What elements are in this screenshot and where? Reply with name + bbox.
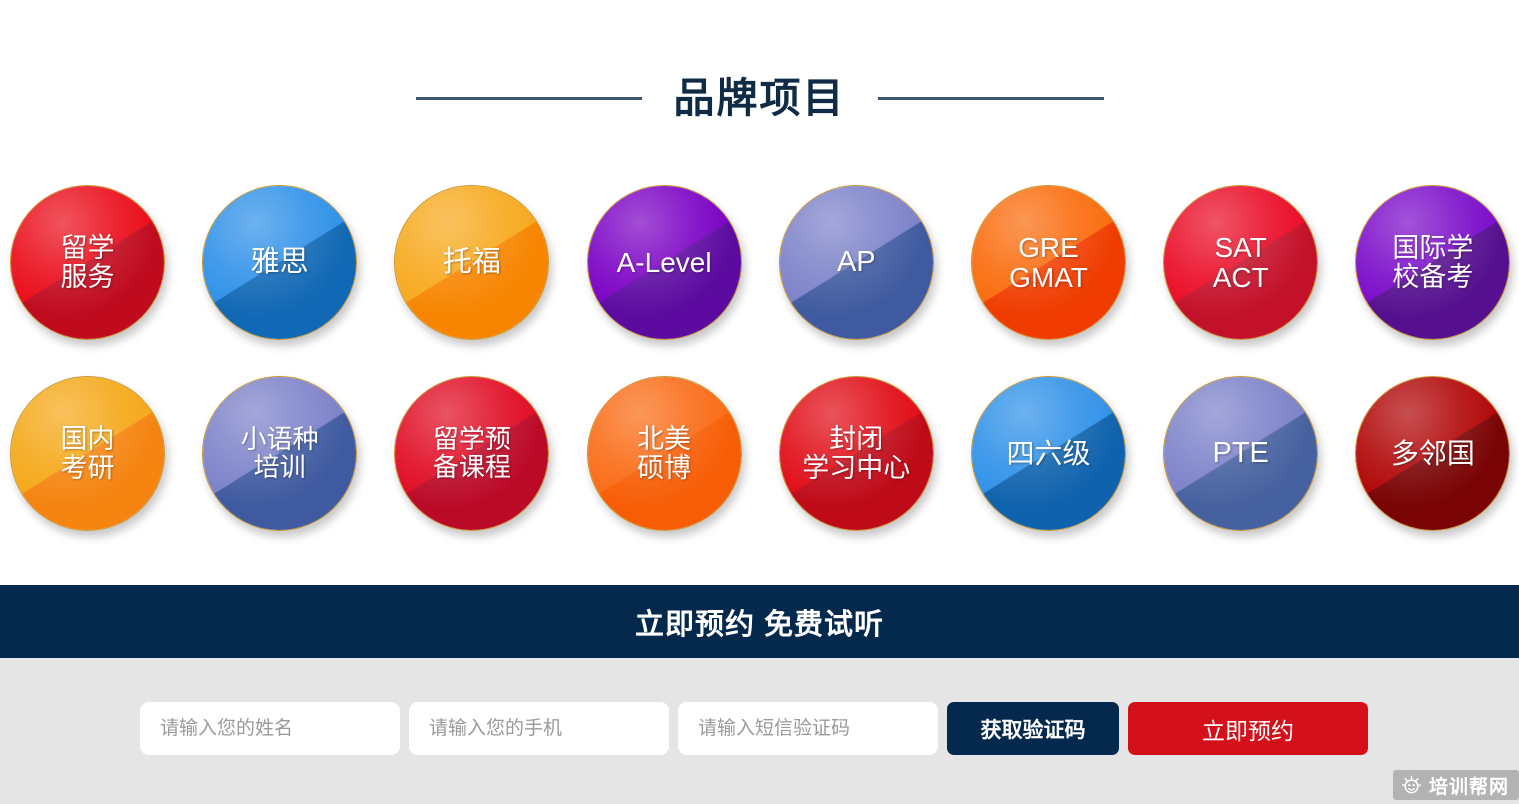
program-bubble[interactable]: 多邻国 — [1355, 376, 1510, 531]
program-bubble[interactable]: 四六级 — [971, 376, 1126, 531]
sun-face-icon — [1401, 775, 1422, 796]
sms-code-input[interactable] — [678, 702, 938, 755]
section-header: 品牌项目 — [0, 62, 1519, 134]
program-bubble[interactable]: PTE — [1163, 376, 1318, 531]
program-bubble-line: 培训 — [241, 454, 319, 481]
program-bubble-line: 北美 — [637, 425, 691, 453]
program-grid: 留学服务雅思托福A-LevelAPGREGMATSATACT国际学校备考 国内考… — [10, 185, 1515, 567]
program-bubble-label: 四六级 — [1006, 439, 1090, 468]
program-bubble[interactable]: 国内考研 — [10, 376, 165, 531]
cta-banner: 立即预约 免费试听 — [0, 585, 1519, 658]
program-bubble-line: SAT — [1213, 233, 1269, 262]
program-bubble[interactable]: 国际学校备考 — [1355, 185, 1510, 340]
program-bubble-line: 服务 — [61, 263, 115, 291]
program-bubble[interactable]: GREGMAT — [971, 185, 1126, 340]
phone-input[interactable] — [409, 702, 669, 755]
program-row-1: 留学服务雅思托福A-LevelAPGREGMATSATACT国际学校备考 — [10, 185, 1515, 340]
program-bubble-label: 留学预备课程 — [433, 426, 511, 480]
program-bubble-line: 国内 — [61, 425, 115, 453]
program-bubble[interactable]: A-Level — [587, 185, 742, 340]
program-bubble-line: 留学 — [61, 234, 115, 262]
program-bubble-line: 托福 — [443, 247, 501, 277]
program-bubble-line: 校备考 — [1392, 263, 1473, 291]
program-bubble[interactable]: 小语种培训 — [202, 376, 357, 531]
program-bubble-line: 考研 — [61, 454, 115, 482]
program-bubble-line: 封闭 — [802, 425, 910, 453]
program-bubble-label: 国内考研 — [61, 425, 115, 481]
program-bubble-label: SATACT — [1213, 233, 1269, 291]
site-watermark: 培训帮网 — [1393, 770, 1519, 800]
program-bubble-line: 留学预 — [433, 426, 511, 453]
program-bubble-line: 多邻国 — [1391, 439, 1475, 468]
program-bubble[interactable]: 留学预备课程 — [394, 376, 549, 531]
program-bubble-label: AP — [837, 247, 876, 277]
program-bubble-label: 留学服务 — [61, 234, 115, 290]
program-bubble-line: 国际学 — [1392, 234, 1473, 262]
program-bubble[interactable]: 封闭学习中心 — [779, 376, 934, 531]
program-row-2: 国内考研小语种培训留学预备课程北美硕博封闭学习中心四六级PTE多邻国 — [10, 376, 1515, 531]
program-bubble[interactable]: 托福 — [394, 185, 549, 340]
reservation-form-strip: 获取验证码 立即预约 — [0, 658, 1519, 804]
title-rule-right — [878, 97, 1104, 100]
program-bubble-label: 小语种培训 — [241, 426, 319, 480]
reservation-form: 获取验证码 立即预约 — [140, 702, 1368, 755]
program-bubble-label: 雅思 — [251, 247, 309, 277]
program-bubble[interactable]: 北美硕博 — [587, 376, 742, 531]
program-bubble-line: 学习中心 — [802, 454, 910, 482]
program-bubble-label: 国际学校备考 — [1392, 234, 1473, 290]
program-bubble-line: 硕博 — [637, 454, 691, 482]
get-verification-code-button[interactable]: 获取验证码 — [947, 702, 1119, 755]
program-bubble-label: 北美硕博 — [637, 425, 691, 481]
program-bubble-line: 备课程 — [433, 454, 511, 481]
program-bubble-line: GMAT — [1009, 263, 1088, 292]
title-rule-left — [416, 97, 642, 100]
program-bubble-line: 四六级 — [1006, 439, 1090, 468]
program-bubble[interactable]: 雅思 — [202, 185, 357, 340]
program-bubble[interactable]: SATACT — [1163, 185, 1318, 340]
watermark-label: 培训帮网 — [1429, 772, 1509, 799]
program-bubble-label: GREGMAT — [1009, 233, 1088, 291]
program-bubble-line: AP — [837, 247, 876, 277]
page-title: 品牌项目 — [674, 78, 846, 119]
program-bubble-line: PTE — [1212, 438, 1268, 468]
program-bubble-line: A-Level — [617, 248, 712, 277]
program-bubble-label: A-Level — [617, 248, 712, 277]
program-bubble-label: 多邻国 — [1391, 439, 1475, 468]
program-bubble-label: 封闭学习中心 — [802, 425, 910, 481]
program-bubble[interactable]: AP — [779, 185, 934, 340]
program-bubble[interactable]: 留学服务 — [10, 185, 165, 340]
program-bubble-line: ACT — [1213, 263, 1269, 292]
program-bubble-label: 托福 — [443, 247, 501, 277]
cta-banner-text: 立即预约 免费试听 — [635, 601, 884, 643]
program-bubble-line: GRE — [1009, 233, 1088, 262]
program-bubble-line: 雅思 — [251, 247, 309, 277]
submit-reservation-button[interactable]: 立即预约 — [1128, 702, 1368, 755]
program-bubble-line: 小语种 — [241, 426, 319, 453]
name-input[interactable] — [140, 702, 400, 755]
program-bubble-label: PTE — [1212, 438, 1268, 468]
